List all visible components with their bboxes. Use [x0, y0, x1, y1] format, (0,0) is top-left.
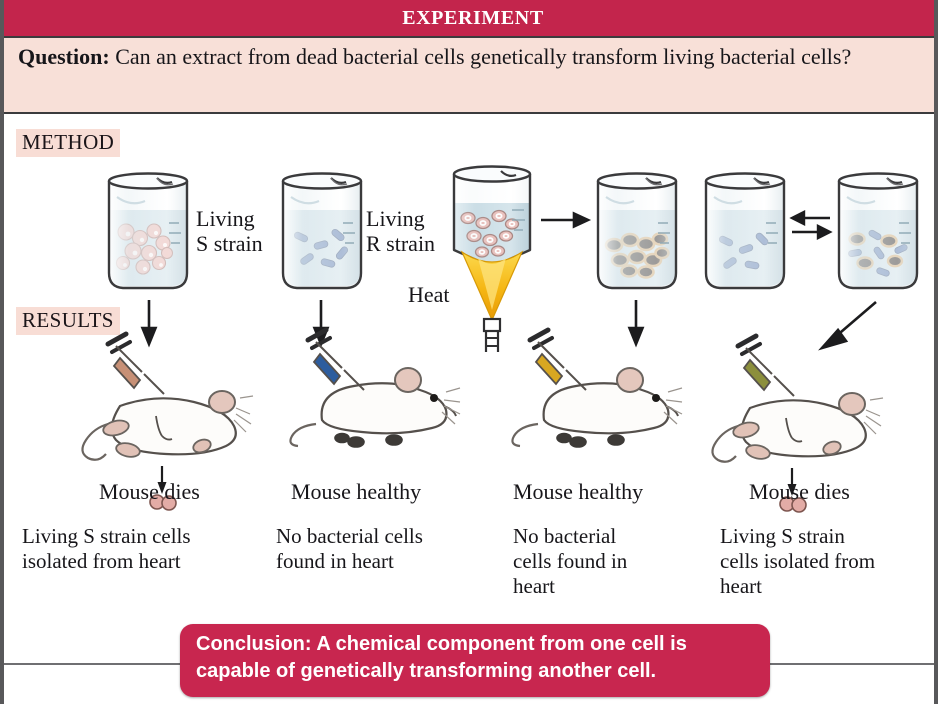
result-3-caption: No bacterial cells found in heart [513, 524, 698, 598]
result-2-mouse [290, 330, 460, 447]
experiment-figure: EXPERIMENT Question: Can an extract from… [0, 0, 938, 704]
result-4-caption: Living S strain cells isolated from hear… [720, 524, 932, 598]
mouse-dead-icon [712, 393, 883, 462]
label-living-s-strain: Living S strain [196, 207, 263, 256]
result-1-title: Mouse dies [99, 479, 200, 505]
label-living-r-strain: Living R strain [366, 207, 435, 256]
beaker-heat-killed-s-strain [598, 174, 676, 289]
syringe-icon-1 [108, 334, 164, 394]
beaker-living-r-strain [283, 174, 361, 289]
syringe-icon-2 [308, 330, 364, 390]
question-panel: Question: Can an extract from dead bacte… [4, 38, 938, 114]
result-2-caption: No bacterial cells found in heart [276, 524, 491, 574]
arrow-heat-to-killed [541, 214, 588, 227]
mouse-healthy-icon [512, 368, 682, 447]
conclusion-text: Conclusion: A chemical component from on… [196, 633, 687, 682]
result-2-title: Mouse healthy [291, 479, 421, 505]
mouse-healthy-icon [290, 368, 460, 447]
result-1-caption: Living S strain cells isolated from hear… [22, 524, 257, 574]
question-text: Can an extract from dead bacterial cells… [110, 44, 852, 69]
result-4-title: Mouse dies [749, 479, 850, 505]
result-3-title: Mouse healthy [513, 479, 643, 505]
syringe-icon-3 [530, 330, 586, 390]
mouse-dead-icon [82, 391, 253, 460]
experiment-header-title: EXPERIMENT [402, 7, 544, 30]
beaker-mixture [839, 174, 917, 289]
beaker-living-r-strain-2 [706, 174, 784, 289]
results-illustration [4, 336, 938, 486]
beaker-living-s-strain [109, 174, 187, 289]
question-label: Question: [18, 44, 110, 69]
conclusion-banner: Conclusion: A chemical component from on… [180, 624, 770, 697]
result-3-mouse [512, 330, 682, 447]
experiment-header: EXPERIMENT [4, 0, 938, 38]
syringe-icon-4 [738, 336, 794, 396]
arrow-mixing-bidirectional [792, 212, 830, 238]
